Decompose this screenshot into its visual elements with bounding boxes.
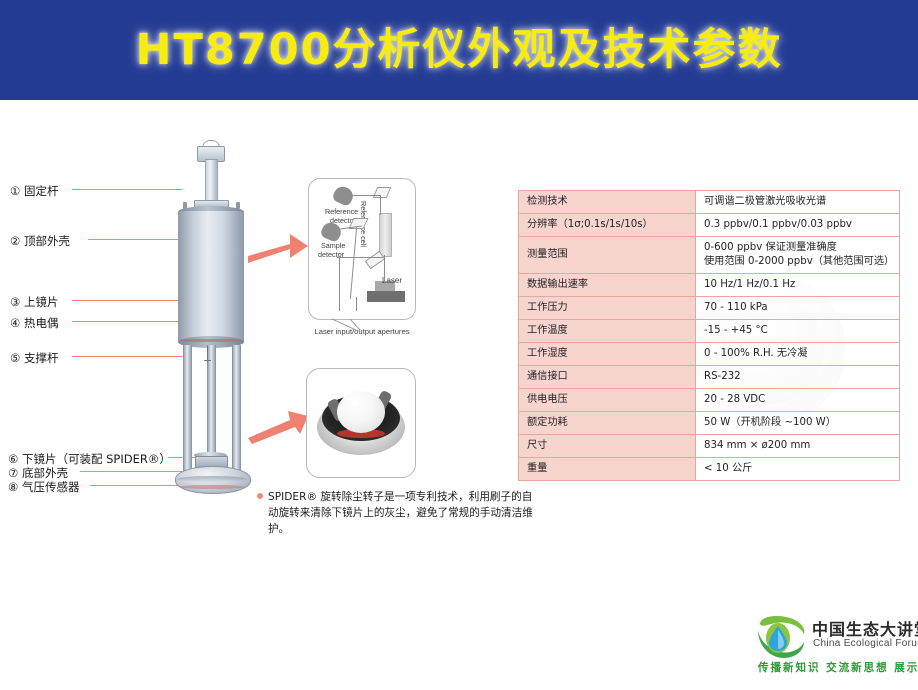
instrument-body xyxy=(178,211,244,343)
pointer-arrow-spider xyxy=(248,398,312,444)
ray-left-down xyxy=(339,257,340,297)
optics-diagram-inset: Reference detector Sample detector Refer… xyxy=(308,178,416,320)
spec-key: 工作压力 xyxy=(519,297,696,320)
spec-key: 供电电压 xyxy=(519,389,696,412)
spider-rotor-dome xyxy=(337,391,385,433)
laser-label: Laser xyxy=(382,276,402,285)
slide-root: HT8700分析仪外观及技术参数 ① 固定杆 ② 顶部外壳 ③ 上镜片 ④ 热电… xyxy=(0,0,918,690)
spec-value: < 10 公斤 xyxy=(696,458,900,481)
spec-table-body: 检测技术 可调谐二极管激光吸收光谱 分辨率（1σ;0.1s/1s/10s） 0.… xyxy=(519,191,900,481)
ray-ref-down xyxy=(380,195,381,215)
table-row: 工作压力 70 - 110 kPa xyxy=(519,297,900,320)
spider-description: SPIDER® 旋转除尘转子是一项专利技术，利用刷子的自动旋转来清除下镜片上的灰… xyxy=(268,489,536,537)
ray-mid xyxy=(337,257,383,258)
ray-aperture-left xyxy=(339,297,340,311)
callout-label-5: ⑤ 支撑杆 xyxy=(10,350,58,366)
spec-key: 工作湿度 xyxy=(519,343,696,366)
spec-table: 检测技术 可调谐二极管激光吸收光谱 分辨率（1σ;0.1s/1s/10s） 0.… xyxy=(518,190,900,481)
spider-photo-inset xyxy=(306,368,416,478)
table-row: 分辨率（1σ;0.1s/1s/10s） 0.3 ppbv/0.1 ppbv/0.… xyxy=(519,214,900,237)
page-title: HT8700分析仪外观及技术参数 xyxy=(0,22,918,78)
spec-value: 834 mm × ø200 mm xyxy=(696,435,900,458)
table-row: 供电电压 20 - 28 VDC xyxy=(519,389,900,412)
spec-key: 通信接口 xyxy=(519,366,696,389)
bottom-housing-band xyxy=(177,476,247,482)
table-row: 测量范围 0-600 ppbv 保证测量准确度 使用范围 0-2000 ppbv… xyxy=(519,237,900,274)
support-rod-left xyxy=(183,345,192,475)
ray-top xyxy=(351,195,380,196)
callout-label-3: ③ 上镜片 xyxy=(10,294,58,310)
callout-label-2: ② 顶部外壳 xyxy=(10,233,70,249)
ray-ref-up xyxy=(384,255,385,283)
spec-key: 工作温度 xyxy=(519,320,696,343)
spec-value: RS-232 xyxy=(696,366,900,389)
ray-center-down xyxy=(350,227,357,299)
spec-value: 0 - 100% R.H. 无冷凝 xyxy=(696,343,900,366)
mirror-top-right xyxy=(373,187,391,198)
pointer-arrow-optics xyxy=(248,222,312,268)
table-row: 额定功耗 50 W（开机阶段 ~100 W） xyxy=(519,412,900,435)
table-row: 数据输出速率 10 Hz/1 Hz/0.1 Hz xyxy=(519,274,900,297)
table-row: 检测技术 可调谐二极管激光吸收光谱 xyxy=(519,191,900,214)
spec-value: 10 Hz/1 Hz/0.1 Hz xyxy=(696,274,900,297)
logo-name-en: China Ecological Forum xyxy=(813,638,918,649)
spec-value: 50 W（开机阶段 ~100 W） xyxy=(696,412,900,435)
bottom-housing-redband xyxy=(179,485,245,489)
instrument-illustration xyxy=(150,140,280,500)
logo-tagline: 传播新知识 交流新思想 展示新成果 xyxy=(758,660,916,676)
table-row: 重量 < 10 公斤 xyxy=(519,458,900,481)
leaf-drop-logo-icon xyxy=(756,614,808,662)
spec-value: 0-600 ppbv 保证测量准确度 使用范围 0-2000 ppbv（其他范围… xyxy=(696,237,900,274)
header-banner: HT8700分析仪外观及技术参数 xyxy=(0,0,918,100)
callout-label-8: ⑧ 气压传感器 xyxy=(8,479,79,495)
ray-aperture-right xyxy=(356,297,357,311)
thermocouple-tip xyxy=(204,360,211,361)
callout-label-4: ④ 热电偶 xyxy=(10,315,58,331)
spec-key: 数据输出速率 xyxy=(519,274,696,297)
logo: 中国生态大讲堂 China Ecological Forum 传播新知识 交流新… xyxy=(756,612,916,686)
spec-key: 分辨率（1σ;0.1s/1s/10s） xyxy=(519,214,696,237)
spec-key: 检测技术 xyxy=(519,191,696,214)
instrument-body-redband xyxy=(179,339,243,342)
bullet-dot-icon xyxy=(257,493,263,499)
spec-value: 可调谐二极管激光吸收光谱 xyxy=(696,191,900,214)
sample-detector-label-line1: Sample xyxy=(321,241,345,250)
spec-key: 尺寸 xyxy=(519,435,696,458)
laser-base-icon xyxy=(367,291,405,302)
logo-name-cn: 中国生态大讲堂 xyxy=(812,616,918,640)
instrument-mounting-rod xyxy=(205,159,218,205)
spec-value: 70 - 110 kPa xyxy=(696,297,900,320)
spec-key: 测量范围 xyxy=(519,237,696,274)
spec-key: 额定功耗 xyxy=(519,412,696,435)
table-row: 工作湿度 0 - 100% R.H. 无冷凝 xyxy=(519,343,900,366)
reference-cell-icon xyxy=(379,213,392,257)
spec-value: 20 - 28 VDC xyxy=(696,389,900,412)
support-rod-right xyxy=(232,345,241,475)
spec-key: 重量 xyxy=(519,458,696,481)
spec-value: 0.3 ppbv/0.1 ppbv/0.03 ppbv xyxy=(696,214,900,237)
spec-value: -15 - +45 °C xyxy=(696,320,900,343)
table-row: 工作温度 -15 - +45 °C xyxy=(519,320,900,343)
reference-detector-label-line1: Reference xyxy=(325,207,358,216)
caption-leader-lines xyxy=(330,318,390,334)
callout-label-1: ① 固定杆 xyxy=(10,183,58,199)
table-row: 通信接口 RS-232 xyxy=(519,366,900,389)
table-row: 尺寸 834 mm × ø200 mm xyxy=(519,435,900,458)
